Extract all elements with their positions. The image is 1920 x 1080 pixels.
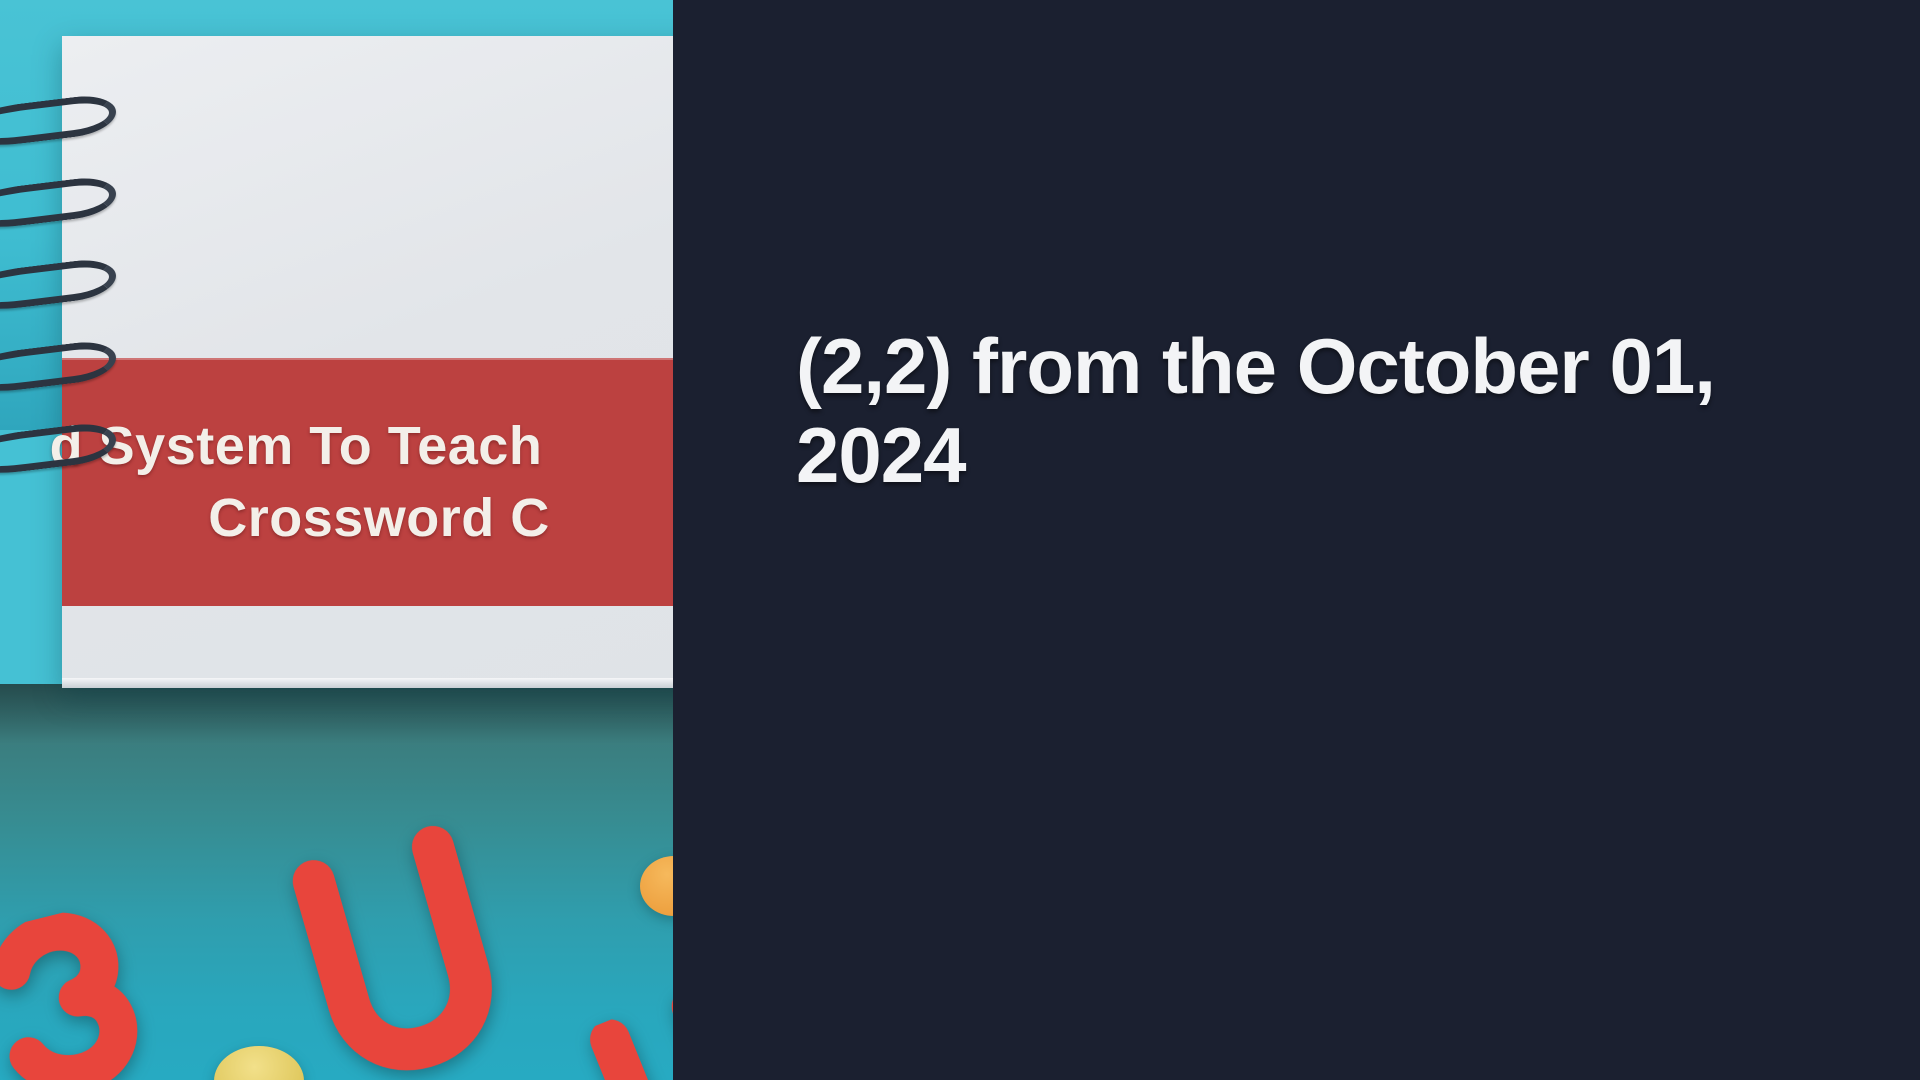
banner-title-line-2: Crossword C	[208, 487, 550, 549]
banner-title-line-1: d System To Teach	[50, 415, 543, 477]
media-panel: d System To Teach Crossword C	[0, 0, 673, 1080]
caption-panel: (2,2) from the October 01, 2024	[673, 0, 1920, 1080]
notebook: d System To Teach Crossword C	[62, 36, 673, 688]
notebook-title-banner: d System To Teach Crossword C	[62, 358, 673, 606]
caption-text: (2,2) from the October 01, 2024	[796, 322, 1796, 500]
slide-canvas: d System To Teach Crossword C	[0, 0, 1920, 1080]
notebook-sheet-edge	[62, 678, 673, 688]
caption-block: (2,2) from the October 01, 2024	[796, 322, 1796, 500]
